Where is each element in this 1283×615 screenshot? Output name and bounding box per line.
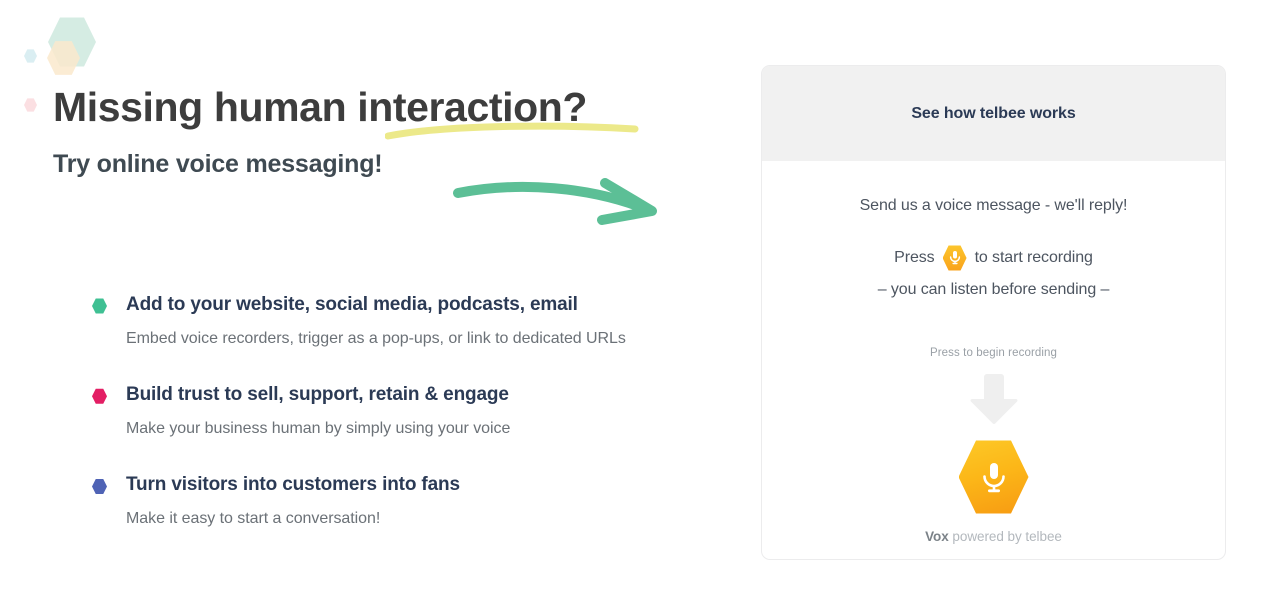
feature-title: Build trust to sell, support, retain & e… <box>126 382 712 408</box>
microphone-icon <box>981 461 1007 494</box>
feature-description: Make your business human by simply using… <box>126 418 712 440</box>
arrow-down-icon <box>966 371 1022 427</box>
widget-press-instruction: Press to start recording <box>894 245 1093 271</box>
feature-title: Turn visitors into customers into fans <box>126 472 712 498</box>
widget-card-body: Send us a voice message - we'll reply! P… <box>762 161 1225 559</box>
widget-card-title: See how telbee works <box>911 105 1075 123</box>
feature-list: Add to your website, social media, podca… <box>92 292 712 530</box>
page-subtitle: Try online voice messaging! <box>53 150 382 179</box>
widget-card-header: See how telbee works <box>762 66 1225 161</box>
hero-section: Missing human interaction? Try online vo… <box>0 0 740 615</box>
widget-footer-branding: Vox powered by telbee <box>925 529 1062 544</box>
list-item: Turn visitors into customers into fans M… <box>92 472 712 529</box>
press-prefix-label: Press <box>894 249 934 267</box>
footer-powered-label: powered by telbee <box>949 529 1062 544</box>
hexagon-bullet-icon <box>92 298 107 314</box>
feature-title: Add to your website, social media, podca… <box>126 292 712 318</box>
hexagon-bullet-icon <box>92 478 107 494</box>
footer-brand-label: Vox <box>925 529 949 544</box>
microphone-icon <box>943 245 967 271</box>
telbee-widget-card: See how telbee works Send us a voice mes… <box>761 65 1226 560</box>
feature-description: Embed voice recorders, trigger as a pop-… <box>126 328 712 350</box>
page-title: Missing human interaction? <box>53 84 587 131</box>
widget-listen-note: – you can listen before sending – <box>878 281 1110 299</box>
feature-description: Make it easy to start a conversation! <box>126 508 712 530</box>
hexagon-bullet-icon <box>92 388 107 404</box>
curved-arrow-icon <box>450 165 675 225</box>
press-suffix-label: to start recording <box>975 249 1093 267</box>
list-item: Add to your website, social media, podca… <box>92 292 712 349</box>
widget-intro-text: Send us a voice message - we'll reply! <box>860 197 1128 215</box>
widget-record-hint: Press to begin recording <box>930 347 1057 359</box>
record-button[interactable] <box>959 439 1029 515</box>
list-item: Build trust to sell, support, retain & e… <box>92 382 712 439</box>
